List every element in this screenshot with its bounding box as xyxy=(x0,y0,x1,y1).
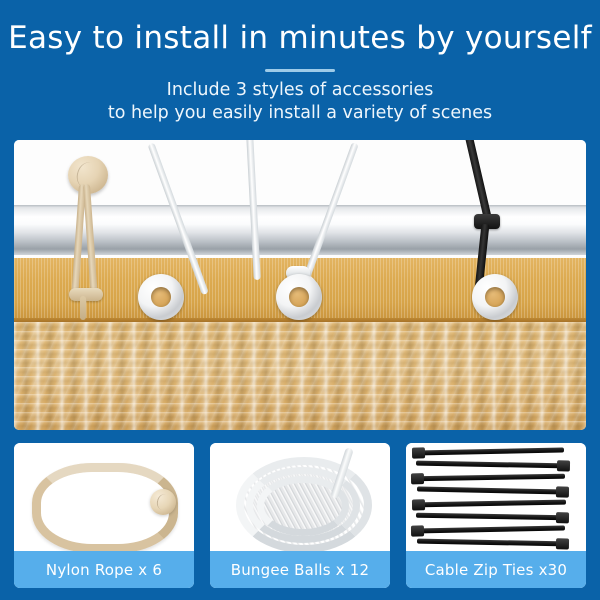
header-section: Easy to install in minutes by yourself I… xyxy=(0,0,600,140)
accessory-panels: Nylon Rope x 6 Bungee Balls x 12 Cable Z… xyxy=(14,443,586,588)
zip-tie-head xyxy=(411,473,424,484)
subtitle-line-1: Include 3 styles of accessories xyxy=(0,80,600,100)
zip-ties-illustration xyxy=(406,443,586,551)
zip-tie xyxy=(417,486,567,494)
title-divider xyxy=(265,69,335,72)
nylon-rope-illustration xyxy=(14,443,194,551)
accessory-panel-bungee-balls: Bungee Balls x 12 xyxy=(210,443,390,588)
knitted-mesh-fabric xyxy=(14,322,586,430)
zip-tie xyxy=(413,474,565,482)
zip-tie-head xyxy=(556,486,569,497)
accessory-panel-nylon-rope: Nylon Rope x 6 xyxy=(14,443,194,588)
zip-tie-head xyxy=(412,447,425,458)
zip-tie xyxy=(414,500,566,508)
zip-tie-head xyxy=(411,525,424,536)
page-title: Easy to install in minutes by yourself xyxy=(0,20,600,56)
zip-tie xyxy=(413,525,565,533)
main-installation-photo xyxy=(14,140,586,430)
metal-grommet xyxy=(138,274,184,320)
rope-end-ball xyxy=(150,489,176,515)
accessory-label-bungee-balls: Bungee Balls x 12 xyxy=(210,551,390,588)
zip-tie xyxy=(416,513,567,521)
zip-tie-head xyxy=(556,538,569,549)
bungee-cord-knot xyxy=(69,288,103,301)
accessory-label-nylon-rope: Nylon Rope x 6 xyxy=(14,551,194,588)
product-infographic: Easy to install in minutes by yourself I… xyxy=(0,0,600,600)
bungee-cord-illustration xyxy=(210,443,390,551)
zip-tie-head xyxy=(412,499,425,510)
zip-tie-head xyxy=(557,460,570,471)
accessory-label-zip-ties: Cable Zip Ties x30 xyxy=(406,551,586,588)
subtitle-line-2: to help you easily install a variety of … xyxy=(0,103,600,123)
zip-tie xyxy=(414,447,564,455)
metal-grommet xyxy=(472,274,518,320)
zip-tie xyxy=(417,539,567,547)
accessory-panel-zip-ties: Cable Zip Ties x30 xyxy=(406,443,586,588)
zip-tie xyxy=(416,461,568,469)
metal-grommet xyxy=(276,274,322,320)
mounting-pole xyxy=(14,205,586,255)
zip-tie-head xyxy=(556,512,569,523)
bungee-cord-tail xyxy=(80,296,86,320)
